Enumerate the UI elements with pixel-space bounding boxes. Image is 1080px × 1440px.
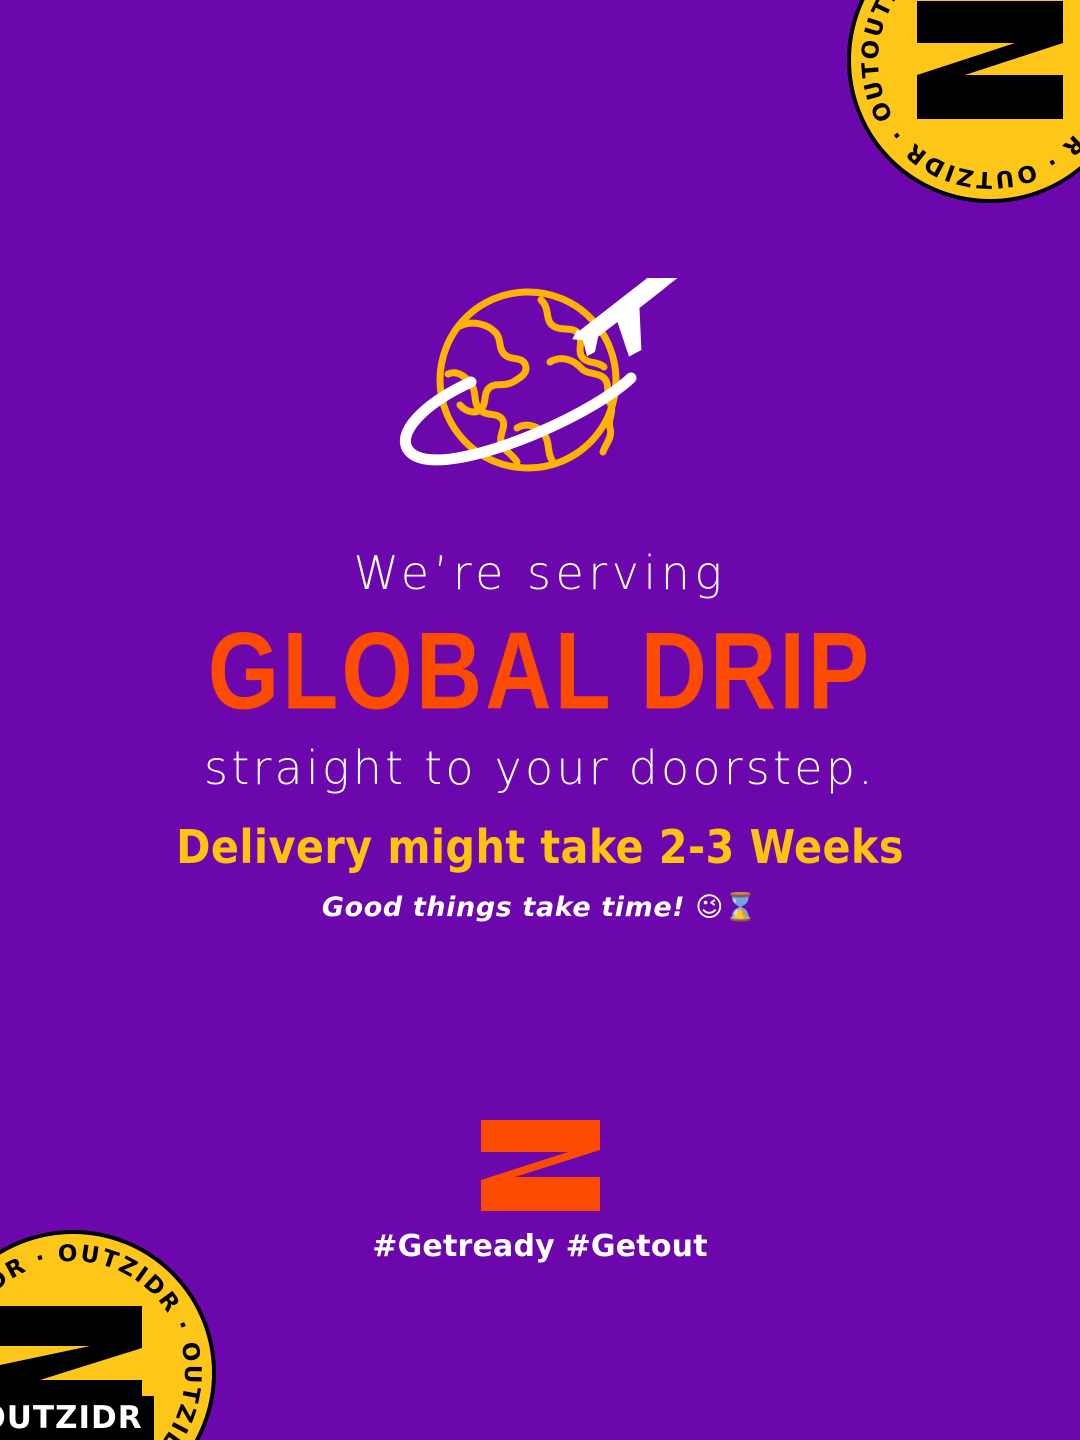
wink-hourglass-emoji: 😉⌛	[695, 892, 758, 923]
poster-canvas: OUTZIDR · OUTZIDR · OUTZIDR · OUTZIDR · …	[0, 0, 1080, 1440]
headline-title: GLOBAL DRIP	[0, 606, 1080, 740]
delivery-notice-block: Delivery might take 2-3 Weeks Good thing…	[0, 822, 1080, 924]
delivery-sub-line: Good things take time! 😉⌛	[0, 892, 1080, 924]
footer-hashtags: #Getready #Getout	[0, 1229, 1080, 1264]
headline-subline: straight to your doorstep.	[0, 743, 1080, 794]
delivery-main-text: Delivery might take 2-3 Weeks	[0, 822, 1080, 874]
headline-block: We’re serving GLOBAL DRIP straight to yo…	[0, 548, 1080, 794]
delivery-sub-text: Good things take time!	[322, 892, 685, 923]
brand-badge-top-right[interactable]: OUTZIDR · OUTZIDR · OUTZIDR · OUTZIDR · …	[845, 0, 1080, 205]
badge-wordmark: OUTZIDR	[0, 1400, 143, 1436]
headline-kicker: We’re serving	[0, 548, 1080, 600]
globe-with-airplane-icon	[365, 278, 715, 508]
z-logo[interactable]	[478, 1118, 603, 1213]
footer-brand-block: #Getready #Getout	[0, 1118, 1080, 1264]
